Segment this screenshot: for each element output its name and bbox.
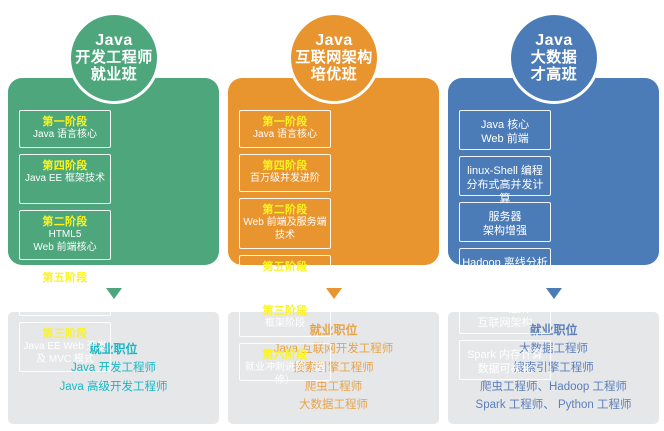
- stage-card[interactable]: 第五阶段亿级并发进阶: [239, 255, 331, 293]
- course-roadmap-board: 第一阶段Java 语言核心第四阶段Java EE 框架技术第二阶段HTML5We…: [0, 0, 664, 431]
- course-badge-line: Java: [95, 32, 133, 50]
- stage-card-body: 百万级并发进阶: [242, 173, 328, 186]
- stage-card-body: Spark 内存计算数据可视化: [462, 348, 548, 376]
- stage-card-list: 第一阶段Java 语言核心第四阶段百万级并发进阶第二阶段Web 前端及服务端技术…: [239, 110, 428, 381]
- stage-card-heading: 第一阶段: [242, 115, 328, 129]
- course-column-java-big-data: Java 核心Web 前端linux-Shell 编程分布式高并发计算服务器架构…: [446, 0, 662, 431]
- stage-card[interactable]: linux-Shell 编程分布式高并发计算: [459, 156, 551, 196]
- course-badge-line: Java: [535, 32, 573, 50]
- stage-card[interactable]: 第六阶段就业冲刺进阶（选修）: [239, 343, 331, 381]
- stage-card[interactable]: 第三阶段Java EE Web 开发及 MVC 模式: [19, 322, 111, 372]
- stage-card[interactable]: Hadoop 离线分析Storm 实时分析: [459, 248, 551, 288]
- stage-card[interactable]: 第五阶段就业冲刺（全栈进阶，选修）: [19, 266, 111, 316]
- course-badge-java-internet-architecture: Java互联网架构培优班: [288, 12, 380, 104]
- stage-card-heading: 第三阶段: [242, 304, 328, 318]
- stage-card[interactable]: 第二阶段Web 前端及服务端技术: [239, 198, 331, 249]
- stage-card-body: Java EE Web 开发及 MVC 模式: [22, 341, 108, 367]
- stage-card-body: 就业冲刺（全栈进阶，选修）: [22, 285, 108, 311]
- job-position-item: 大数据工程师: [299, 396, 368, 415]
- stage-card-list: Java 核心Web 前端linux-Shell 编程分布式高并发计算服务器架构…: [459, 110, 648, 380]
- stage-panel-java-dev-engineer: 第一阶段Java 语言核心第四阶段Java EE 框架技术第二阶段HTML5We…: [8, 78, 219, 265]
- stage-card[interactable]: Spark 内存计算数据可视化: [459, 340, 551, 380]
- course-badge-line: 才高班: [531, 67, 578, 84]
- down-arrow-icon: [546, 288, 562, 299]
- course-badge-line: 就业班: [91, 67, 138, 84]
- stage-card-heading: 第五阶段: [242, 260, 328, 274]
- down-arrow-icon: [106, 288, 122, 299]
- stage-panel-java-internet-architecture: 第一阶段Java 语言核心第四阶段百万级并发进阶第二阶段Web 前端及服务端技术…: [228, 78, 439, 265]
- course-badge-line: 开发工程师: [75, 50, 153, 67]
- stage-card-body: Web 前端及服务端技术: [242, 217, 328, 243]
- stage-card-heading: 第四阶段: [22, 159, 108, 173]
- job-position-item: 爬虫工程师、Hadoop 工程师: [480, 378, 627, 397]
- course-badge-line: 大数据: [531, 50, 578, 67]
- stage-card-heading: 第五阶段: [22, 271, 108, 285]
- course-badge-java-big-data: Java大数据才高班: [508, 12, 600, 104]
- stage-card-body: linux-Shell 编程分布式高并发计算: [462, 164, 548, 206]
- stage-card-body: Hadoop 离线分析Storm 实时分析: [462, 256, 548, 284]
- stage-card-body: 框架阶段: [242, 318, 328, 331]
- stage-panel-java-big-data: Java 核心Web 前端linux-Shell 编程分布式高并发计算服务器架构…: [448, 78, 659, 265]
- course-badge-line: 互联网架构: [295, 50, 373, 67]
- job-position-item: Spark 工程师、 Python 工程师: [476, 396, 632, 415]
- course-column-java-dev-engineer: 第一阶段Java 语言核心第四阶段Java EE 框架技术第二阶段HTML5We…: [6, 0, 222, 431]
- job-position-item: Java 高级开发工程师: [60, 378, 168, 397]
- stage-card-list: 第一阶段Java 语言核心第四阶段Java EE 框架技术第二阶段HTML5We…: [19, 110, 208, 372]
- stage-card[interactable]: Java 核心Web 前端: [459, 110, 551, 150]
- stage-card[interactable]: 第一阶段Java 语言核心: [19, 110, 111, 148]
- stage-card[interactable]: 第二阶段HTML5Web 前端核心: [19, 210, 111, 260]
- stage-card[interactable]: 服务器架构增强: [459, 202, 551, 242]
- stage-card[interactable]: Java 框架互联网架构: [459, 294, 551, 334]
- stage-card-body: Java 核心Web 前端: [462, 118, 548, 146]
- stage-card-body: Java 语言核心: [22, 129, 108, 142]
- stage-card[interactable]: 第三阶段框架阶段: [239, 299, 331, 337]
- stage-card-heading: 第四阶段: [242, 159, 328, 173]
- course-column-java-internet-architecture: 第一阶段Java 语言核心第四阶段百万级并发进阶第二阶段Web 前端及服务端技术…: [226, 0, 442, 431]
- course-badge-line: 培优班: [311, 67, 358, 84]
- stage-card-heading: 第六阶段: [242, 348, 328, 362]
- stage-card-body: Java 框架互联网架构: [462, 302, 548, 330]
- stage-card-heading: 第二阶段: [22, 215, 108, 229]
- course-badge-line: Java: [315, 32, 353, 50]
- stage-card-body: Java 语言核心: [242, 129, 328, 142]
- stage-card[interactable]: 第四阶段Java EE 框架技术: [19, 154, 111, 204]
- stage-card-heading: 第二阶段: [242, 203, 328, 217]
- course-badge-java-dev-engineer: Java开发工程师就业班: [68, 12, 160, 104]
- down-arrow-icon: [326, 288, 342, 299]
- stage-card[interactable]: 第四阶段百万级并发进阶: [239, 154, 331, 192]
- stage-card-heading: 第三阶段: [22, 327, 108, 341]
- stage-card-heading: 第一阶段: [22, 115, 108, 129]
- stage-card-body: Java EE 框架技术: [22, 173, 108, 186]
- stage-card-body: HTML5Web 前端核心: [22, 229, 108, 255]
- stage-card-body: 服务器架构增强: [462, 210, 548, 238]
- stage-card-body: 亿级并发进阶: [242, 274, 328, 287]
- stage-card[interactable]: 第一阶段Java 语言核心: [239, 110, 331, 148]
- stage-card-body: 就业冲刺进阶（选修）: [242, 362, 328, 388]
